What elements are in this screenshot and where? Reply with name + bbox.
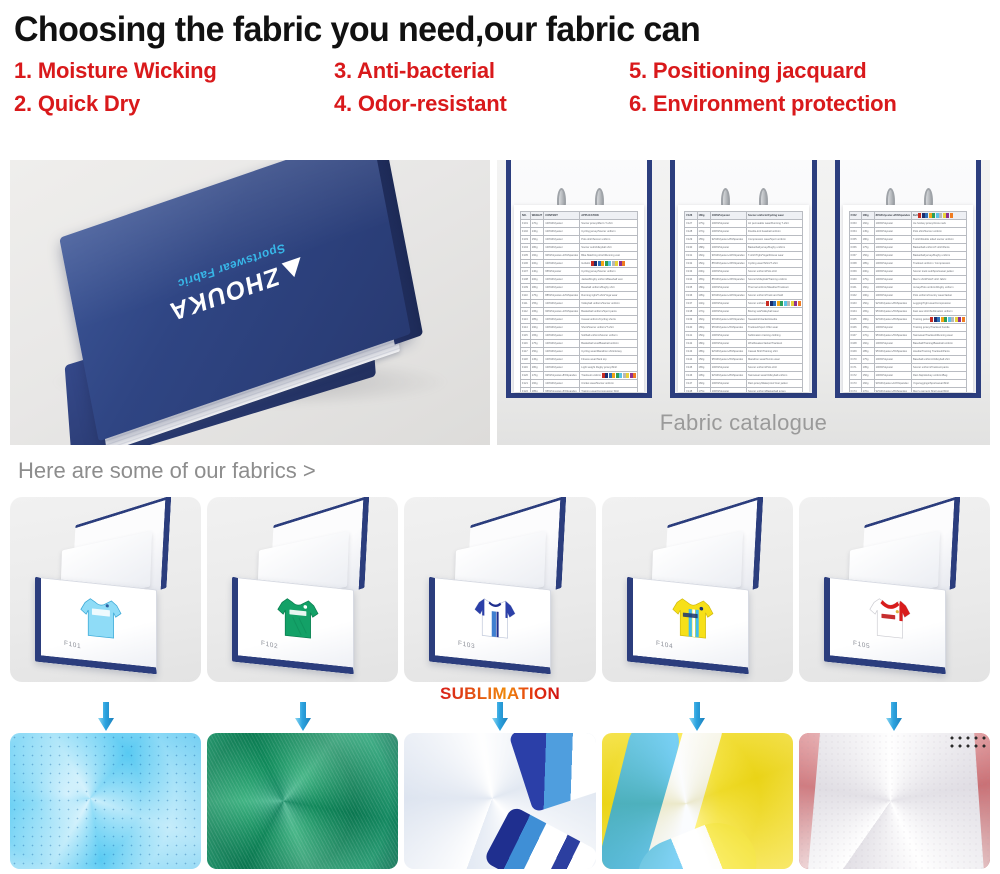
- fabric-card-4[interactable]: F104: [602, 497, 793, 682]
- table-row: F101170g100%PolyesterSoccer jersey/Men's…: [521, 220, 638, 228]
- catalogue-caption: Fabric catalogue: [497, 410, 990, 436]
- table-cell: 100%Polyester: [710, 228, 746, 236]
- table-cell: 200g: [530, 260, 544, 268]
- table-cell: 88%Polyester+12%Spandex: [544, 292, 580, 300]
- table-row: F167170g95%Polyester+5%SpandexSwimwear/T…: [849, 332, 966, 340]
- table-row: F173160g90%Polyester+10%SpandexYoga legg…: [849, 380, 966, 388]
- feature-list: 1. Moisture Wicking 3. Anti-bacterial 5.…: [14, 58, 1000, 117]
- table-cell: 188g: [697, 244, 710, 252]
- table-cell: F117: [521, 348, 531, 356]
- table-cell: F103: [521, 236, 531, 244]
- table-row: F130188g100%PolyesterBasketball jersey/R…: [685, 244, 802, 252]
- table-row: F171195g100%PolyesterSoccer uniform/Trac…: [849, 364, 966, 372]
- column-header: NO.: [521, 212, 531, 220]
- table-cell: F110: [521, 292, 531, 300]
- table-cell: 160g: [861, 380, 874, 388]
- table-cell: 100%Polyester: [874, 324, 911, 332]
- table-cell: 175g: [861, 276, 874, 284]
- table-cell: F140: [685, 324, 697, 332]
- down-arrow-icon: [488, 702, 512, 737]
- table-cell: F166: [849, 324, 861, 332]
- table-cell: 160g: [697, 252, 710, 260]
- fabric-code-label: F105: [853, 640, 870, 651]
- red-edge-left: [799, 733, 821, 869]
- button-placket-dots: [948, 734, 986, 748]
- table-cell: F122: [521, 388, 531, 393]
- table-cell: F138: [685, 308, 697, 316]
- table-cell: Polo shirt/Soccer uniform: [911, 228, 966, 236]
- table-cell: 100%Polyester: [710, 220, 746, 228]
- table-cell: Yoga leggings/Sportswear/Shirt: [911, 380, 966, 388]
- table-row: F148175g100%PolyesterSoccer uniform/Bask…: [685, 388, 802, 393]
- book-front-panel: F101: [35, 577, 157, 674]
- fabric-spec-table: F152180g80%Polyester+20%SpandexFull F153…: [849, 211, 967, 392]
- table-cell: F165: [849, 316, 861, 324]
- book-front-panel: F104: [627, 577, 749, 674]
- table-cell: F108: [521, 276, 531, 284]
- table-row: F108200g100%PolyesterJacket/Rugby unifor…: [521, 276, 638, 284]
- table-cell: Air permeable wear/Running T-shirt: [746, 220, 802, 228]
- table-cell: Fitness wear/Tank top: [580, 356, 638, 364]
- table-cell: F112: [521, 308, 531, 316]
- open-swatch-book: F103: [420, 508, 581, 671]
- table-cell: F126: [685, 212, 697, 220]
- open-swatch-book: F101: [25, 508, 186, 671]
- table-cell: Basketball uniform/T-shirt/Pants: [911, 244, 966, 252]
- table-cell: F129: [685, 236, 697, 244]
- table-cell: 85%Polyester+15%Spandex: [710, 260, 746, 268]
- fabric-code-label: F102: [261, 640, 278, 651]
- table-cell: F136: [685, 292, 697, 300]
- red-white-jersey: [860, 591, 920, 645]
- table-cell: 100%Polyester: [874, 276, 911, 284]
- table-cell: 190g: [530, 324, 544, 332]
- table-cell: Men's garment Shell wear/Shirt: [911, 388, 966, 393]
- table-cell: F137: [685, 300, 697, 308]
- white-blue-jersey: [465, 591, 525, 645]
- table-cell: 100%Polyester: [544, 236, 580, 244]
- table-cell: F128: [685, 228, 697, 236]
- table-cell: F113: [521, 316, 531, 324]
- table-cell: 155g: [697, 236, 710, 244]
- fabric-swirl: [207, 733, 398, 869]
- table-cell: 100%Polyester: [544, 364, 580, 372]
- feature-item-3: 3. Anti-bacterial: [334, 58, 629, 84]
- table-header-row: NO.WEIGHTCONTENTAPPLICATION: [521, 212, 638, 220]
- table-cell: 185g: [530, 316, 544, 324]
- table-cell: 100%Polyester: [874, 236, 911, 244]
- table-cell: 100%Polyester: [874, 220, 911, 228]
- table-cell: Softball uniform/Soccer uniform: [580, 332, 638, 340]
- table-cell: 155g: [530, 300, 544, 308]
- open-swatch-book: F104: [617, 508, 778, 671]
- table-cell: Training wear/Compression Shirt: [580, 388, 638, 393]
- table-cell: 160g: [861, 284, 874, 292]
- table-row: F109180g100%PolyesterBaseball uniform/Ru…: [521, 284, 638, 292]
- table-cell: F156: [849, 244, 861, 252]
- table-cell: 100%Polyester: [544, 340, 580, 348]
- table-cell: F168: [849, 340, 861, 348]
- fabric-code-label: F103: [458, 640, 475, 651]
- table-cell: 90%Polyester+10%Spandex: [544, 308, 580, 316]
- table-cell: 195g: [861, 364, 874, 372]
- triangle-logo-icon: [282, 257, 304, 280]
- table-row: F114190g100%PolyesterShort/Soccer unifor…: [521, 324, 638, 332]
- table-cell: 145g: [861, 228, 874, 236]
- table-row: F105160g90%Polyester+10%SpandexBike Matc…: [521, 252, 638, 260]
- color-swatch-strip: [930, 317, 965, 322]
- table-cell: 95%Polyester+5%Spandex: [874, 348, 911, 356]
- table-cell: 100%Polyester: [874, 284, 911, 292]
- catalogue-photo-background: NO.WEIGHTCONTENTAPPLICATIONF101170g100%P…: [497, 160, 990, 445]
- table-cell: Short/Soccer uniform/T-shirt: [580, 324, 638, 332]
- table-cell: 100%Polyester: [874, 356, 911, 364]
- table-cell: F114: [521, 324, 531, 332]
- table-row: F165180g92%Polyester+8%SpandexTraining j…: [849, 316, 966, 324]
- table-cell: Fast sew shirt/Sublimation uniform: [911, 308, 966, 316]
- table-row: F143185g92%Polyester+8%SpandexCasual Shi…: [685, 348, 802, 356]
- table-cell: 140g: [530, 268, 544, 276]
- red-edge-right: [973, 733, 990, 869]
- table-row: F146195g92%Polyester+8%SpandexSwimwear w…: [685, 372, 802, 380]
- table-cell: 150g: [861, 252, 874, 260]
- table-cell: Polo uniform/Country wear/Jacket: [911, 292, 966, 300]
- table-cell: 100%Polyester: [874, 228, 911, 236]
- fabric-card-5[interactable]: F105: [799, 497, 990, 682]
- table-row: F141150g100%PolyesterSublimation trainin…: [685, 332, 802, 340]
- table-row: F126180g100%PolyesterSoccer uniform/Cycl…: [685, 212, 802, 220]
- table-cell: Full: [911, 212, 966, 220]
- fabric-swirl: [602, 733, 793, 869]
- table-row: F112195g90%Polyester+10%SpandexBasketbal…: [521, 308, 638, 316]
- column-header: APPLICATION: [580, 212, 638, 220]
- table-cell: 100%Polyester: [710, 212, 746, 220]
- table-cell: 100%Polyester: [874, 340, 911, 348]
- table-cell: F109: [521, 284, 531, 292]
- table-row: F159200g100%PolyesterSoccer track suit/S…: [849, 268, 966, 276]
- table-cell: 195g: [530, 308, 544, 316]
- table-cell: Double-knit baseball uniform: [746, 228, 802, 236]
- table-cell: 100%Polyester: [874, 260, 911, 268]
- table-cell: 100%Polyester: [544, 332, 580, 340]
- table-row: F115165g100%PolyesterSoftball uniform/So…: [521, 332, 638, 340]
- table-cell: F133: [685, 268, 697, 276]
- down-arrow-icon: [94, 702, 118, 737]
- table-cell: 100%Polyester: [544, 244, 580, 252]
- table-cell: 160g: [697, 316, 710, 324]
- table-cell: Cycling jersey/Soccer uniform: [580, 268, 638, 276]
- table-cell: 170g: [530, 372, 544, 380]
- fabric-card-2[interactable]: F102: [207, 497, 398, 682]
- table-row: F174170g92%Polyester+8%SpandexMen's garm…: [849, 388, 966, 393]
- table-row: F132150g85%Polyester+15%SpandexCycling w…: [685, 260, 802, 268]
- table-cell: Tracksuit uniform / Compression: [911, 260, 966, 268]
- green-fabric: [207, 733, 398, 869]
- fabric-catalogue-photo: NO.WEIGHTCONTENTAPPLICATIONF101170g100%P…: [497, 160, 990, 445]
- table-cell: F135: [685, 284, 697, 292]
- table-cell: 100%Polyester: [874, 372, 911, 380]
- table-cell: Soccer uniform: [746, 300, 802, 308]
- table-cell: 92%Polyester+8%Spandex: [544, 372, 580, 380]
- down-arrow-icon: [291, 702, 315, 737]
- table-cell: F104: [521, 244, 531, 252]
- table-cell: F134: [685, 276, 697, 284]
- table-cell: 100%Polyester: [544, 316, 580, 324]
- table-cell: Polo shirt/Soccer uniform: [580, 236, 638, 244]
- table-cell: 180g: [697, 212, 710, 220]
- table-cell: Light weight Rugby jersey/Shirt: [580, 364, 638, 372]
- table-row: F170175g100%PolyesterBaseball uniform/Vo…: [849, 356, 966, 364]
- yellow-blue-fabric: [602, 733, 793, 869]
- color-swatch-strip: [766, 301, 801, 306]
- fabric-code-label: F101: [64, 640, 81, 651]
- table-cell: 95%Polyester+5%Spandex: [710, 356, 746, 364]
- feature-item-2: 2. Quick Dry: [14, 91, 334, 117]
- table-row: F137140g100%PolyesterSoccer uniform: [685, 300, 802, 308]
- table-cell: 92%Polyester+8%Spandex: [710, 372, 746, 380]
- table-cell: F160: [849, 276, 861, 284]
- table-cell: 180g: [530, 244, 544, 252]
- table-cell: 90%Polyester+10%Spandex: [710, 292, 746, 300]
- table-row: F154145g100%PolyesterPolo shirt/Soccer u…: [849, 228, 966, 236]
- table-row: F160175g100%PolyesterMen's shirt/Polo/T-…: [849, 276, 966, 284]
- table-cell: F171: [849, 364, 861, 372]
- table-cell: F127: [685, 220, 697, 228]
- table-cell: Rain jersey/Waterproof liner jacket: [746, 380, 802, 388]
- book-photo-background: ZHOUKA Sportswear Fabric: [10, 160, 490, 445]
- table-row: F142180g100%PolyesterWindbreaker/Jacket/…: [685, 340, 802, 348]
- table-cell: 100%Polyester: [710, 364, 746, 372]
- fabric-swirl: [10, 733, 201, 869]
- table-cell: F120: [521, 372, 531, 380]
- table-row: F104180g100%PolyesterSoccer suit/Volleyb…: [521, 244, 638, 252]
- white-red-fabric: [799, 733, 990, 869]
- table-row: F117150g100%PolyesterCycling wear/Marath…: [521, 348, 638, 356]
- brand-name: ZHOUKA: [167, 262, 282, 328]
- table-cell: 150g: [697, 260, 710, 268]
- catalogue-page-3: F152180g80%Polyester+20%SpandexFull F153…: [829, 160, 987, 406]
- table-cell: F132: [685, 260, 697, 268]
- table-cell: 90%Polyester+10%Spandex: [544, 252, 580, 260]
- feature-item-1: 1. Moisture Wicking: [14, 58, 334, 84]
- table-row: F152180g80%Polyester+20%SpandexFull: [849, 212, 966, 220]
- table-cell: Casual uniform/Cycling shorts: [580, 316, 638, 324]
- light-blue-fabric: [10, 733, 201, 869]
- table-cell: 155g: [861, 324, 874, 332]
- table-row: F127175g100%PolyesterAir permeable wear/…: [685, 220, 802, 228]
- table-cell: 160g: [530, 252, 544, 260]
- table-cell: 170g: [861, 332, 874, 340]
- table-cell: F130: [685, 244, 697, 252]
- table-cell: Basketball vest/Baseball uniform: [580, 340, 638, 348]
- fabric-card-1[interactable]: F101: [10, 497, 201, 682]
- table-cell: Legging/Tight wear/Compression: [911, 300, 966, 308]
- yellow-jersey: [662, 591, 722, 645]
- table-cell: Soccer uniform/Cycling wear: [746, 212, 802, 220]
- table-cell: Windbreaker/Jacket/Tracksuit: [746, 340, 802, 348]
- table-cell: Sublimation training clothing: [746, 332, 802, 340]
- table-cell: F159: [849, 268, 861, 276]
- table-row: F136195g90%Polyester+10%SpandexSoccer un…: [685, 292, 802, 300]
- table-cell: 92%Polyester+8%Spandex: [874, 388, 911, 393]
- table-cell: 200g: [861, 268, 874, 276]
- table-cell: F162: [849, 292, 861, 300]
- table-cell: 160g: [530, 380, 544, 388]
- table-row: F128170g100%PolyesterDouble-knit basebal…: [685, 228, 802, 236]
- table-cell: 170g: [530, 220, 544, 228]
- table-cell: 180g: [697, 284, 710, 292]
- table-cell: 165g: [697, 364, 710, 372]
- table-cell: 92%Polyester+8%Spandex: [874, 316, 911, 324]
- arrow-row: SUBLIMATION: [10, 686, 990, 730]
- table-cell: F131: [685, 252, 697, 260]
- table-cell: Soccer uniform/Polo shirt: [746, 364, 802, 372]
- table-cell: 145g: [530, 356, 544, 364]
- table-cell: F102: [521, 228, 531, 236]
- table-cell: 165g: [697, 276, 710, 284]
- table-cell: Soccer uniform/Track and field: [746, 292, 802, 300]
- table-cell: 100%Polyester: [544, 260, 580, 268]
- table-cell: 160g: [861, 220, 874, 228]
- table-cell: 100%Polyester: [710, 300, 746, 308]
- arrow-cell-2: [207, 686, 398, 730]
- table-cell: F164: [849, 308, 861, 316]
- table-row: F122185g95%Polyester+5%SpandexTraining w…: [521, 388, 638, 393]
- table-cell: 100%Polyester: [544, 228, 580, 236]
- table-cell: 90%Polyester+10%Spandex: [710, 316, 746, 324]
- table-cell: 100%Polyester: [710, 308, 746, 316]
- book-front-panel: F102: [232, 577, 354, 674]
- table-cell: F107: [521, 268, 531, 276]
- table-row: F172150g100%PolyesterRain flap/Hockey un…: [849, 372, 966, 380]
- column-header: CONTENT: [544, 212, 580, 220]
- feature-item-6: 6. Environment protection: [629, 91, 1000, 117]
- catalogue-sheet: NO.WEIGHTCONTENTAPPLICATIONF101170g100%P…: [514, 205, 644, 392]
- table-cell: F147: [685, 380, 697, 388]
- book-front-panel: F103: [429, 577, 551, 674]
- table-cell: 90%Polyester+10%Spandex: [874, 380, 911, 388]
- table-cell: Running tight/T-shirt/Yoga wear: [580, 292, 638, 300]
- table-row: F155180g100%PolyesterT-shirt/Double side…: [849, 236, 966, 244]
- fabric-card-3[interactable]: F103: [404, 497, 595, 682]
- table-cell: F121: [521, 380, 531, 388]
- table-cell: Baseball uniform/Volleyball shirt: [911, 356, 966, 364]
- table-cell: F139: [685, 316, 697, 324]
- table-cell: 180g: [530, 364, 544, 372]
- table-row: F113185g100%PolyesterCasual uniform/Cycl…: [521, 316, 638, 324]
- table-row: F166155g100%PolyesterTraining jersey/Tra…: [849, 324, 966, 332]
- table-row: F169185g95%Polyester+5%SpandexHoodie/Tra…: [849, 348, 966, 356]
- table-row: F133200g100%PolyesterSoccer uniform/Polo…: [685, 268, 802, 276]
- book-front-panel: F105: [824, 577, 946, 674]
- table-row: F110175g88%Polyester+12%SpandexRunning t…: [521, 292, 638, 300]
- table-cell: 100%Polyester: [544, 380, 580, 388]
- light-blue-jersey: [71, 591, 131, 645]
- table-cell: F174: [849, 388, 861, 393]
- table-cell: Cycling wear/Tshirt/T-shirt: [746, 260, 802, 268]
- table-cell: 100%Polyester: [544, 348, 580, 356]
- table-row: F107140g95%PolyesterCycling jersey/Socce…: [521, 268, 638, 276]
- table-cell: F161: [849, 284, 861, 292]
- table-cell: 100%Polyester: [710, 388, 746, 393]
- table-cell: F148: [685, 388, 697, 393]
- table-cell: 80%Polyester+20%Spandex: [874, 212, 911, 220]
- table-cell: 95%Polyester+5%Spandex: [874, 308, 911, 316]
- table-row: F116175g100%PolyesterBasketball vest/Bas…: [521, 340, 638, 348]
- table-row: F118145g100%PolyesterFitness wear/Tank t…: [521, 356, 638, 364]
- table-cell: F111: [521, 300, 531, 308]
- page-header: Choosing the fabric you need,our fabric …: [0, 0, 1000, 117]
- table-cell: 200g: [530, 276, 544, 284]
- feature-item-4: 4. Odor-resistant: [334, 91, 629, 117]
- table-row: F134165g85%Polyester+15%SpandexSoccer/Vo…: [685, 276, 802, 284]
- table-cell: 185g: [861, 260, 874, 268]
- table-cell: 92%Polyester+8%Spandex: [710, 348, 746, 356]
- color-swatch-strip: [918, 213, 953, 218]
- table-cell: F144: [685, 356, 697, 364]
- table-row: F156175g100%PolyesterBasketball uniform/…: [849, 244, 966, 252]
- catalogue-sheet: F152180g80%Polyester+20%SpandexFull F153…: [843, 205, 973, 392]
- table-cell: F158: [849, 260, 861, 268]
- table-cell: F173: [849, 380, 861, 388]
- table-cell: F153: [849, 220, 861, 228]
- table-cell: 100%Polyester: [710, 284, 746, 292]
- table-cell: 165g: [530, 332, 544, 340]
- table-cell: Basketball jersey/Rugby uniform: [746, 244, 802, 252]
- table-cell: 92%Polyester+8%Spandex: [710, 236, 746, 244]
- table-cell: Training jacket: [911, 316, 966, 324]
- table-cell: 130g: [530, 228, 544, 236]
- table-cell: 180g: [861, 212, 874, 220]
- table-cell: 95%Polyester: [544, 268, 580, 276]
- table-row: F111155g100%PolyesterVolleyball uniform/…: [521, 300, 638, 308]
- table-cell: F152: [849, 212, 861, 220]
- table-cell: 90%Polyester+10%Spandex: [710, 252, 746, 260]
- arrow-cell-4: [602, 686, 793, 730]
- table-cell: Casual Shirt/Training shirt: [746, 348, 802, 356]
- table-cell: F115: [521, 332, 531, 340]
- table-cell: Compression wear/Sport uniform: [746, 236, 802, 244]
- table-cell: 92%Polyester+8%Spandex: [874, 300, 911, 308]
- white-blue-fabric: [404, 733, 595, 869]
- table-cell: Training jersey/Tracksuit hoodie: [911, 324, 966, 332]
- table-row: F144150g95%Polyester+5%SpandexMarathon w…: [685, 356, 802, 364]
- table-cell: Swimwear wear/Volleyball uniform: [746, 372, 802, 380]
- table-cell: 100%Polyester: [874, 268, 911, 276]
- table-cell: Gobelin: [580, 260, 638, 268]
- table-row: F129155g92%Polyester+8%SpandexCompressio…: [685, 236, 802, 244]
- table-cell: 100%Polyester: [874, 244, 911, 252]
- table-cell: Baseball/Training/Baseball uniform: [911, 340, 966, 348]
- table-cell: 195g: [697, 292, 710, 300]
- feature-item-5: 5. Positioning jacquard: [629, 58, 1000, 84]
- table-cell: 180g: [697, 324, 710, 332]
- table-row: F119180g100%PolyesterLight weight Rugby …: [521, 364, 638, 372]
- table-cell: Hoodie/Training Tracksuit/Pants: [911, 348, 966, 356]
- color-swatch-strip: [591, 261, 626, 266]
- green-jersey: [268, 591, 328, 645]
- table-cell: 100%Polyester: [710, 268, 746, 276]
- down-arrow-icon: [685, 702, 709, 737]
- table-cell: 185g: [530, 388, 544, 393]
- table-cell: 95%Polyester+5%Spandex: [874, 332, 911, 340]
- table-cell: F142: [685, 340, 697, 348]
- table-row: F145165g100%PolyesterSoccer uniform/Polo…: [685, 364, 802, 372]
- table-cell: 175g: [697, 388, 710, 393]
- table-cell: 170g: [861, 388, 874, 393]
- fabric-closeup-row: [10, 733, 990, 869]
- table-cell: F146: [685, 372, 697, 380]
